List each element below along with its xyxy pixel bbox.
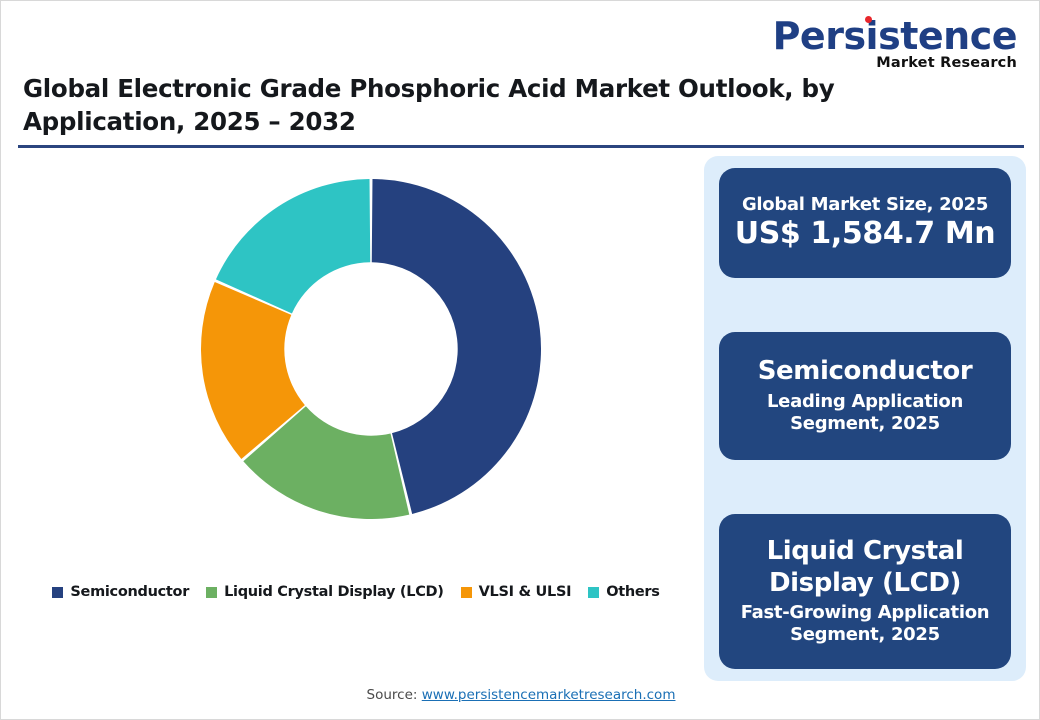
stat-card-market-size: Global Market Size, 2025 US$ 1,584.7 Mn	[719, 168, 1011, 278]
brand-logo: Persistence Market Research	[757, 17, 1017, 71]
market-size-label: Global Market Size, 2025	[742, 194, 988, 216]
title-divider	[18, 145, 1024, 148]
fastest-segment-name-line1: Liquid Crystal	[767, 536, 964, 567]
fastest-segment-caption-line2: Segment, 2025	[741, 624, 990, 647]
source-link[interactable]: www.persistencemarketresearch.com	[422, 687, 676, 703]
brand-logo-word-text: Persistence	[773, 14, 1017, 58]
legend-swatch-icon	[588, 587, 599, 598]
market-size-value: US$ 1,584.7 Mn	[735, 217, 996, 252]
chart-legend: Semiconductor Liquid Crystal Display (LC…	[11, 584, 701, 600]
footer-source: Source: www.persistencemarketresearch.co…	[1, 687, 1040, 703]
legend-item-semiconductor[interactable]: Semiconductor	[52, 584, 189, 600]
leading-segment-caption-line2: Segment, 2025	[767, 413, 963, 436]
donut-chart-svg: SemiconductorLiquid Crystal Display (LCD…	[201, 179, 541, 519]
stat-card-leading-segment: Semiconductor Leading Application Segmen…	[719, 332, 1011, 460]
leading-segment-caption: Leading Application Segment, 2025	[767, 391, 963, 436]
brand-logo-subtitle: Market Research	[757, 56, 1017, 71]
legend-item-others[interactable]: Others	[588, 584, 659, 600]
fastest-segment-caption-line1: Fast-Growing Application	[741, 602, 990, 625]
legend-swatch-icon	[206, 587, 217, 598]
infographic-page: Persistence Market Research Global Elect…	[0, 0, 1040, 720]
page-title: Global Electronic Grade Phosphoric Acid …	[23, 73, 1003, 138]
highlights-panel: Global Market Size, 2025 US$ 1,584.7 Mn …	[704, 156, 1026, 681]
chart-area: SemiconductorLiquid Crystal Display (LCD…	[11, 156, 701, 626]
legend-item-label: Liquid Crystal Display (LCD)	[224, 584, 444, 600]
brand-logo-dot-icon	[865, 16, 872, 23]
fastest-segment-name-line2: Display (LCD)	[767, 568, 964, 599]
legend-swatch-icon	[52, 587, 63, 598]
source-prefix-label: Source:	[367, 687, 422, 703]
leading-segment-caption-line1: Leading Application	[767, 391, 963, 414]
legend-item-label: Others	[606, 584, 659, 600]
legend-item-label: VLSI & ULSI	[479, 584, 572, 600]
brand-logo-wordmark: Persistence	[773, 17, 1017, 55]
donut-chart: SemiconductorLiquid Crystal Display (LCD…	[201, 179, 541, 519]
legend-item-lcd[interactable]: Liquid Crystal Display (LCD)	[206, 584, 444, 600]
fastest-segment-name: Liquid Crystal Display (LCD)	[767, 536, 964, 598]
fastest-segment-caption: Fast-Growing Application Segment, 2025	[741, 602, 990, 647]
stat-card-fastest-segment: Liquid Crystal Display (LCD) Fast-Growin…	[719, 514, 1011, 669]
legend-item-vlsi-ulsi[interactable]: VLSI & ULSI	[461, 584, 572, 600]
legend-swatch-icon	[461, 587, 472, 598]
legend-item-label: Semiconductor	[70, 584, 189, 600]
leading-segment-name: Semiconductor	[758, 356, 973, 387]
